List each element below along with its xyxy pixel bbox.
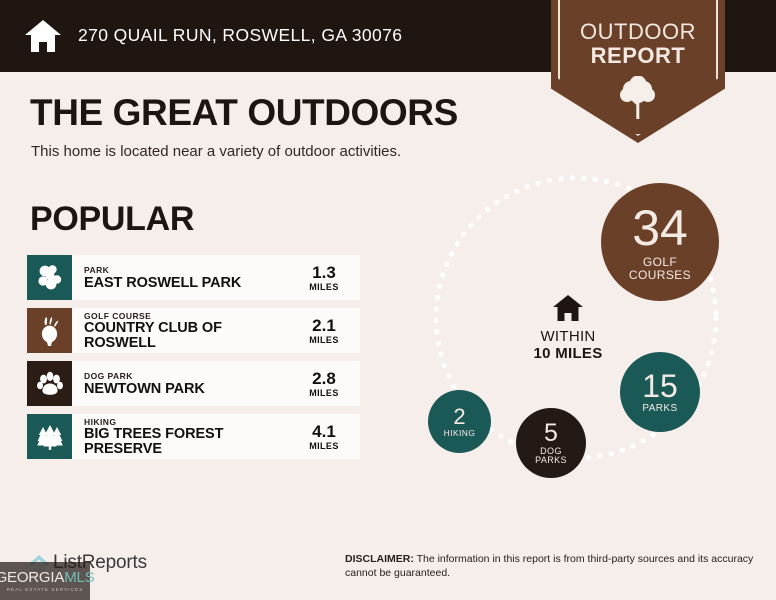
item-icon-box (27, 361, 72, 406)
item-distance: 1.3 MILES (296, 255, 360, 300)
pine-trees-icon (35, 423, 65, 451)
item-distance-unit: MILES (309, 282, 339, 292)
item-category: PARK (84, 265, 296, 275)
badge-line1: OUTDOOR (551, 19, 725, 45)
list-item[interactable]: GOLF COURSE COUNTRY CLUB OF ROSWELL 2.1 … (27, 308, 360, 353)
home-icon (552, 294, 584, 322)
bubble-label: PARKS (642, 404, 677, 415)
bubble-hiking: 2 HIKING (428, 390, 491, 453)
bubble-label-line2: PARKS (535, 456, 567, 465)
popular-list: PARK EAST ROSWELL PARK 1.3 MILES (27, 255, 360, 467)
item-category: GOLF COURSE (84, 311, 296, 321)
bubble-golf-courses: 34 GOLF COURSES (601, 183, 719, 301)
item-distance: 4.1 MILES (296, 414, 360, 459)
item-distance-unit: MILES (309, 441, 339, 451)
summary-center: WITHIN 10 MILES (508, 294, 628, 362)
bubble-label-line1: GOLF (629, 256, 691, 269)
item-icon-box (27, 308, 72, 353)
outdoor-report-badge: OUTDOOR REPORT (551, 0, 725, 143)
item-name: COUNTRY CLUB OF ROSWELL (84, 321, 296, 351)
watermark-part1: GEORGIA (0, 569, 64, 586)
list-item[interactable]: DOG PARK NEWTOWN PARK 2.8 MILES (27, 361, 360, 406)
item-distance-value: 2.1 (312, 317, 336, 335)
list-item[interactable]: HIKING BIG TREES FOREST PRESERVE 4.1 MIL… (27, 414, 360, 459)
park-tree-icon (35, 264, 65, 292)
item-text: PARK EAST ROSWELL PARK (72, 255, 296, 300)
bubble-label: HIKING (444, 429, 476, 438)
property-address: 270 QUAIL RUN, ROSWELL, GA 30076 (78, 25, 402, 46)
summary-diagram: 34 GOLF COURSES 15 PARKS 5 DOG PARKS 2 H… (396, 168, 776, 528)
watermark-part2: MLS (64, 569, 94, 586)
badge-line2: REPORT (551, 43, 725, 69)
item-distance-unit: MILES (309, 335, 339, 345)
item-category: DOG PARK (84, 371, 296, 381)
center-line1: WITHIN (508, 328, 628, 345)
infographic-page: 270 QUAIL RUN, ROSWELL, GA 30076 OUTDOOR… (0, 0, 776, 600)
item-icon-box (27, 255, 72, 300)
item-distance-value: 2.8 (312, 370, 336, 388)
bubble-parks: 15 PARKS (620, 352, 700, 432)
disclaimer-label: DISCLAIMER: (345, 553, 414, 565)
item-name: EAST ROSWELL PARK (84, 275, 296, 291)
popular-heading: POPULAR (30, 200, 194, 239)
bubble-count: 34 (632, 203, 688, 253)
item-category: HIKING (84, 417, 296, 427)
watermark-subtitle: REAL ESTATE SERVICES (7, 587, 84, 592)
page-title: THE GREAT OUTDOORS (30, 92, 458, 134)
tree-icon (619, 76, 657, 120)
item-distance: 2.1 MILES (296, 308, 360, 353)
item-text: GOLF COURSE COUNTRY CLUB OF ROSWELL (72, 308, 296, 353)
list-item[interactable]: PARK EAST ROSWELL PARK 1.3 MILES (27, 255, 360, 300)
item-icon-box (27, 414, 72, 459)
center-line2: 10 MILES (508, 345, 628, 362)
home-icon (24, 18, 62, 54)
item-distance: 2.8 MILES (296, 361, 360, 406)
bubble-label: GOLF COURSES (629, 256, 691, 281)
item-distance-value: 1.3 (312, 264, 336, 282)
golf-ball-tee-icon (37, 316, 63, 346)
paw-print-icon (36, 370, 64, 398)
bubble-label-line2: COURSES (629, 269, 691, 282)
page-subtitle: This home is located near a variety of o… (31, 143, 401, 160)
item-text: HIKING BIG TREES FOREST PRESERVE (72, 414, 296, 459)
item-name: NEWTOWN PARK (84, 381, 296, 397)
bubble-dog-parks: 5 DOG PARKS (516, 408, 586, 478)
watermark-title: GEORGIAMLS (0, 570, 94, 585)
item-distance-value: 4.1 (312, 423, 336, 441)
item-distance-unit: MILES (309, 388, 339, 398)
item-name: BIG TREES FOREST PRESERVE (84, 427, 296, 457)
item-text: DOG PARK NEWTOWN PARK (72, 361, 296, 406)
georgia-mls-watermark: GEORGIAMLS REAL ESTATE SERVICES (0, 562, 90, 600)
bubble-count: 5 (544, 421, 558, 446)
bubble-count: 2 (453, 406, 465, 428)
bubble-label: DOG PARKS (535, 447, 567, 466)
bubble-count: 15 (642, 370, 678, 402)
disclaimer: DISCLAIMER: The information in this repo… (345, 553, 765, 580)
